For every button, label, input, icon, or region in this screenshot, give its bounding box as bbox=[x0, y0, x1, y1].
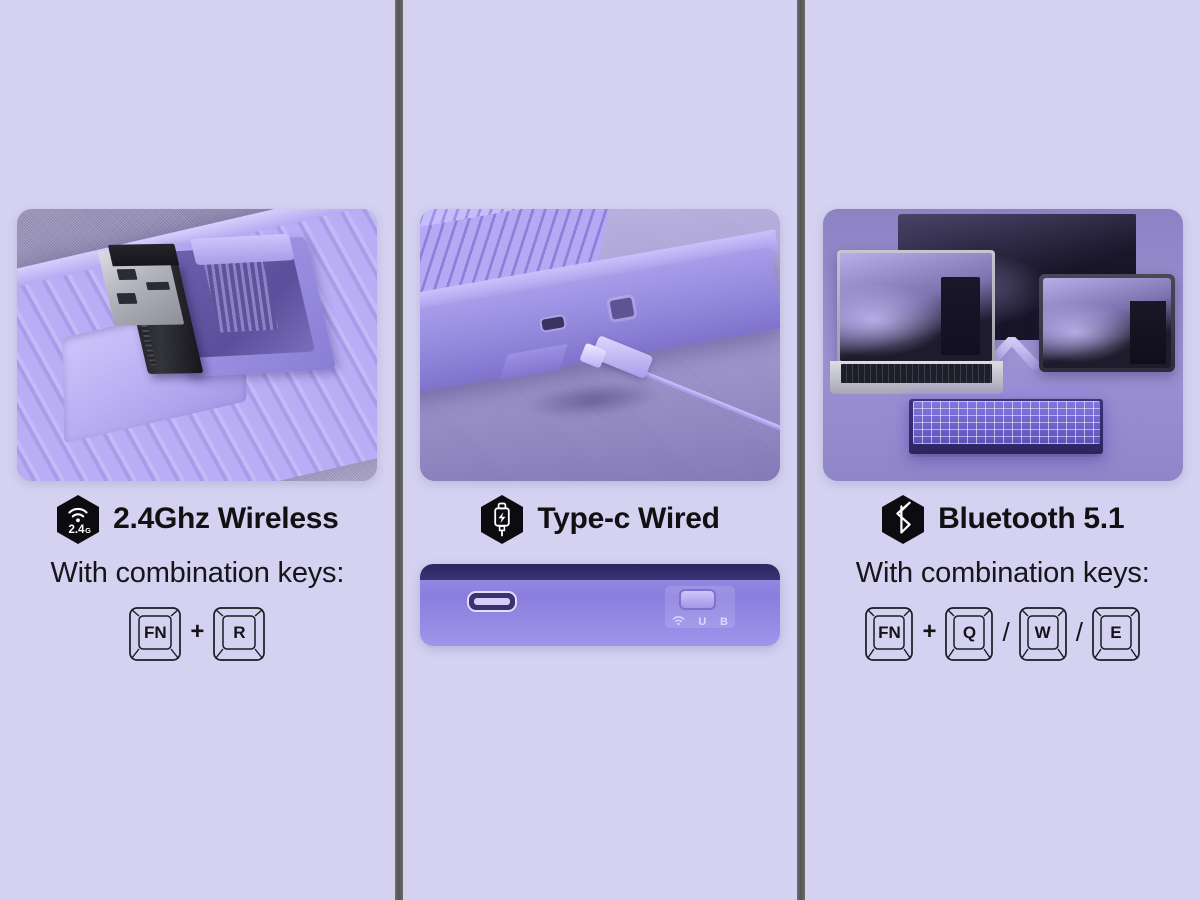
tablet-device bbox=[1039, 274, 1176, 372]
panel-1-title: 2.4Ghz Wireless bbox=[113, 502, 338, 536]
svg-text:2.4: 2.4 bbox=[69, 524, 86, 536]
laptop-device bbox=[837, 250, 995, 364]
panel-divider-1 bbox=[395, 0, 403, 900]
keycap-label: FN bbox=[864, 606, 914, 662]
usb-mode-icon: U bbox=[698, 616, 706, 628]
panel-1-key-combo: FN + R bbox=[128, 606, 266, 662]
hexagon-bluetooth-icon bbox=[881, 495, 925, 544]
wifi-mode-icon bbox=[672, 615, 685, 629]
panel-3-combo-label: With combination keys: bbox=[856, 557, 1150, 590]
panel-divider-2 bbox=[797, 0, 805, 900]
panel-bluetooth-51: Bluetooth 5.1 With combination keys: FN … bbox=[805, 0, 1200, 900]
keycap-q[interactable]: Q bbox=[944, 606, 994, 662]
mode-slider-switch bbox=[679, 589, 716, 610]
panel-3-key-combo: FN + Q / bbox=[864, 606, 1140, 662]
usb-c-port-closeup bbox=[467, 591, 517, 612]
panel-3-product-image bbox=[823, 209, 1183, 481]
keycap-w[interactable]: W bbox=[1018, 606, 1068, 662]
bluetooth-mode-icon: B bbox=[720, 616, 728, 628]
keycap-e[interactable]: E bbox=[1091, 606, 1141, 662]
keycap-label: W bbox=[1018, 606, 1068, 662]
key-separator-plus: + bbox=[921, 618, 937, 650]
key-separator-slash: / bbox=[1075, 617, 1084, 652]
panel-1-heading: 2.4 G 2.4Ghz Wireless bbox=[56, 496, 338, 542]
laptop-screen bbox=[840, 253, 992, 361]
hexagon-wifi-24g-icon: 2.4 G bbox=[56, 495, 100, 544]
keycap-label: FN bbox=[128, 606, 182, 662]
keycap-fn[interactable]: FN bbox=[864, 606, 914, 662]
compartment-lid-tab bbox=[190, 234, 295, 266]
usb-pin bbox=[117, 293, 138, 304]
panel-2-port-closeup-image: U B bbox=[420, 564, 780, 646]
laptop-keyboard bbox=[841, 364, 992, 383]
hexagon-usb-c-bolt-icon bbox=[480, 495, 524, 544]
mode-switch bbox=[609, 297, 634, 319]
keycap-label: R bbox=[212, 606, 266, 662]
usb-pin bbox=[146, 282, 170, 290]
keyboard-back-edge bbox=[420, 564, 780, 580]
keycap-r[interactable]: R bbox=[212, 606, 266, 662]
panel-wireless-24g: 2.4 G 2.4Ghz Wireless With combination k… bbox=[0, 0, 395, 900]
usb-pin bbox=[117, 269, 138, 280]
keycap-fn[interactable]: FN bbox=[128, 606, 182, 662]
keyboard-backlight-glow bbox=[909, 397, 1103, 457]
key-separator-plus: + bbox=[189, 618, 205, 650]
panel-1-product-image bbox=[17, 209, 377, 481]
panel-3-heading: Bluetooth 5.1 bbox=[881, 496, 1124, 542]
feature-board: 2.4 G 2.4Ghz Wireless With combination k… bbox=[0, 0, 1200, 900]
tablet-screen bbox=[1043, 278, 1172, 368]
mode-switch-icons: U B bbox=[665, 612, 735, 632]
key-separator-slash: / bbox=[1001, 617, 1010, 652]
keycap-label: Q bbox=[944, 606, 994, 662]
panel-1-combo-label: With combination keys: bbox=[50, 557, 344, 590]
panel-2-product-image bbox=[420, 209, 780, 481]
panel-type-c-wired: Type-c Wired U B bbox=[403, 0, 798, 900]
keycap-label: E bbox=[1091, 606, 1141, 662]
panel-2-title: Type-c Wired bbox=[537, 502, 719, 536]
usb-connector-top bbox=[108, 244, 179, 266]
svg-text:G: G bbox=[85, 526, 91, 535]
panel-2-heading: Type-c Wired bbox=[480, 496, 719, 542]
panel-3-title: Bluetooth 5.1 bbox=[938, 502, 1124, 536]
